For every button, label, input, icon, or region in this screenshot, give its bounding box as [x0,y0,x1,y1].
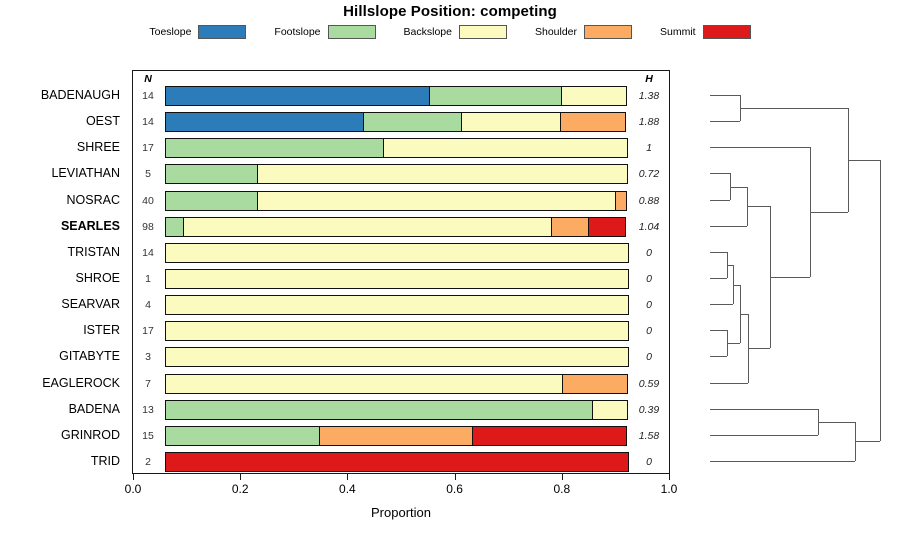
bar-row [165,217,629,237]
bar-segment-backslope [165,269,629,289]
bar-segment-backslope [383,138,628,158]
legend-item-backslope: Backslope [404,25,507,39]
n-column: N141417540981414173713152 [133,71,163,473]
x-tick-label: 0.0 [125,482,142,496]
bar-segment-footslope [165,191,258,211]
h-value: 0 [629,299,669,311]
bar-segment-backslope [561,86,627,106]
category-label-shroe: SHROE [76,271,120,285]
chart-legend: ToeslopeFootslopeBackslopeShoulderSummit [0,25,900,39]
dendrogram-branch [710,278,727,279]
bar-segment-toeslope [165,86,430,106]
dendrogram-branch [727,343,740,344]
dendrogram-branch [710,409,818,410]
legend-label: Shoulder [535,26,577,38]
h-value: 1.04 [629,221,669,233]
bar-segment-backslope [165,374,563,394]
dendrogram-branch [710,330,727,331]
legend-swatch [584,25,632,39]
h-value: 0 [629,456,669,468]
category-label-leviathan: LEVIATHAN [51,166,120,180]
h-column-header: H [629,73,669,85]
bar-row [165,112,629,132]
x-tick [455,474,456,480]
dendrogram-branch [710,95,740,96]
bar-row [165,86,629,106]
dendrogram-branch [710,356,727,357]
h-value: 0.72 [629,168,669,180]
bar-row [165,321,629,341]
category-label-searles: SEARLES [61,219,120,233]
dendrogram-branch [855,441,880,442]
dendrogram-branch [710,200,730,201]
n-value: 17 [133,142,163,154]
category-label-tristan: TRISTAN [67,245,120,259]
dendrogram [700,70,895,474]
h-value: 0 [629,247,669,259]
x-tick [562,474,563,480]
x-tick [347,474,348,480]
legend-label: Backslope [404,26,452,38]
bar-segment-summit [165,452,629,472]
bar-segment-footslope [363,112,462,132]
bar-row [165,452,629,472]
category-label-badena: BADENA [69,402,120,416]
bar-row [165,347,629,367]
x-tick-label: 0.4 [339,482,356,496]
legend-swatch [198,25,246,39]
bar-segment-shoulder [551,217,589,237]
bar-segment-footslope [165,138,384,158]
chart-title: Hillslope Position: competing [0,3,900,20]
category-label-ister: ISTER [83,323,120,337]
category-label-oest: OEST [86,114,120,128]
dendrogram-branch [880,160,881,441]
x-tick-label: 0.2 [232,482,249,496]
h-value: 0 [629,325,669,337]
x-axis-title: Proportion [132,505,670,520]
h-value: 0.88 [629,195,669,207]
h-value: 1.58 [629,430,669,442]
bar-row [165,269,629,289]
bar-segment-summit [472,426,627,446]
n-value: 3 [133,351,163,363]
bar-segment-summit [588,217,626,237]
dendrogram-branch [848,160,880,161]
dendrogram-branch [747,206,770,207]
bar-segment-backslope [165,347,629,367]
bar-row [165,191,629,211]
n-value: 14 [133,90,163,102]
legend-label: Summit [660,26,696,38]
dendrogram-branch [710,435,818,436]
legend-swatch [328,25,376,39]
x-tick-label: 1.0 [661,482,678,496]
bar-segment-footslope [165,217,184,237]
n-column-header: N [133,73,163,85]
bar-segment-backslope [183,217,552,237]
bar-segment-toeslope [165,112,364,132]
dendrogram-branch [710,304,733,305]
legend-item-footslope: Footslope [274,25,375,39]
n-value: 40 [133,195,163,207]
bar-segment-backslope [592,400,628,420]
bar-segment-shoulder [562,374,628,394]
dendrogram-branch [710,461,855,462]
category-axis-labels: BADENAUGHOESTSHREELEVIATHANNOSRACSEARLES… [0,70,128,474]
legend-item-summit: Summit [660,25,751,39]
legend-item-toeslope: Toeslope [149,25,246,39]
dendrogram-branch [810,212,848,213]
legend-swatch [459,25,507,39]
category-label-trid: TRID [91,454,120,468]
category-label-shree: SHREE [77,140,120,154]
dendrogram-branch [710,226,747,227]
dendrogram-branch [710,147,810,148]
category-label-gitabyte: GITABYTE [59,349,120,363]
h-column: H1.381.8810.720.881.04000000.590.391.580 [629,71,669,473]
x-tick [240,474,241,480]
bar-segment-backslope [165,243,629,263]
category-label-eaglerock: EAGLEROCK [42,376,120,390]
legend-label: Footslope [274,26,320,38]
category-label-grinrod: GRINROD [61,428,120,442]
dendrogram-branch [740,314,748,315]
n-value: 15 [133,430,163,442]
n-value: 4 [133,299,163,311]
plot-panel: N141417540981414173713152 H1.381.8810.72… [132,70,670,474]
n-value: 13 [133,404,163,416]
bar-segment-footslope [165,164,258,184]
bar-segment-shoulder [560,112,626,132]
chart-root: Hillslope Position: competing ToeslopeFo… [0,0,900,540]
dendrogram-branch [740,108,848,109]
n-value: 7 [133,378,163,390]
bar-row [165,426,629,446]
bar-row [165,164,629,184]
x-tick-label: 0.6 [446,482,463,496]
stacked-bars [165,71,629,473]
x-tick-label: 0.8 [553,482,570,496]
bar-segment-backslope [461,112,560,132]
bar-row [165,243,629,263]
n-value: 5 [133,168,163,180]
dendrogram-branch [818,422,855,423]
x-tick [133,474,134,480]
bar-segment-footslope [165,400,593,420]
h-value: 1.38 [629,90,669,102]
category-label-searvar: SEARVAR [61,297,120,311]
h-value: 1.88 [629,116,669,128]
x-tick [669,474,670,480]
dendrogram-branch [710,252,727,253]
bar-row [165,374,629,394]
category-label-badenaugh: BADENAUGH [41,88,120,102]
bar-row [165,295,629,315]
dendrogram-branch [710,383,748,384]
x-axis: 0.00.20.40.60.81.0 [132,474,670,504]
n-value: 14 [133,247,163,259]
bar-segment-footslope [165,426,320,446]
bar-segment-shoulder [615,191,627,211]
h-value: 0 [629,351,669,363]
dendrogram-branch [748,348,770,349]
bar-segment-backslope [165,321,629,341]
dendrogram-branch [733,285,740,286]
bar-segment-backslope [165,295,629,315]
dendrogram-branch [710,173,730,174]
dendrogram-branch [770,277,810,278]
legend-item-shoulder: Shoulder [535,25,632,39]
n-value: 98 [133,221,163,233]
h-value: 0.59 [629,378,669,390]
n-value: 2 [133,456,163,468]
bar-segment-shoulder [319,426,474,446]
bar-segment-backslope [257,164,628,184]
dendrogram-branch [710,121,740,122]
bar-row [165,138,629,158]
bar-segment-footslope [429,86,562,106]
n-value: 17 [133,325,163,337]
n-value: 1 [133,273,163,285]
legend-swatch [703,25,751,39]
n-value: 14 [133,116,163,128]
h-value: 0 [629,273,669,285]
h-value: 0.39 [629,404,669,416]
bar-segment-backslope [257,191,617,211]
h-value: 1 [629,142,669,154]
dendrogram-branch [730,187,747,188]
bar-row [165,400,629,420]
legend-label: Toeslope [149,26,191,38]
category-label-nosrac: NOSRAC [67,193,120,207]
